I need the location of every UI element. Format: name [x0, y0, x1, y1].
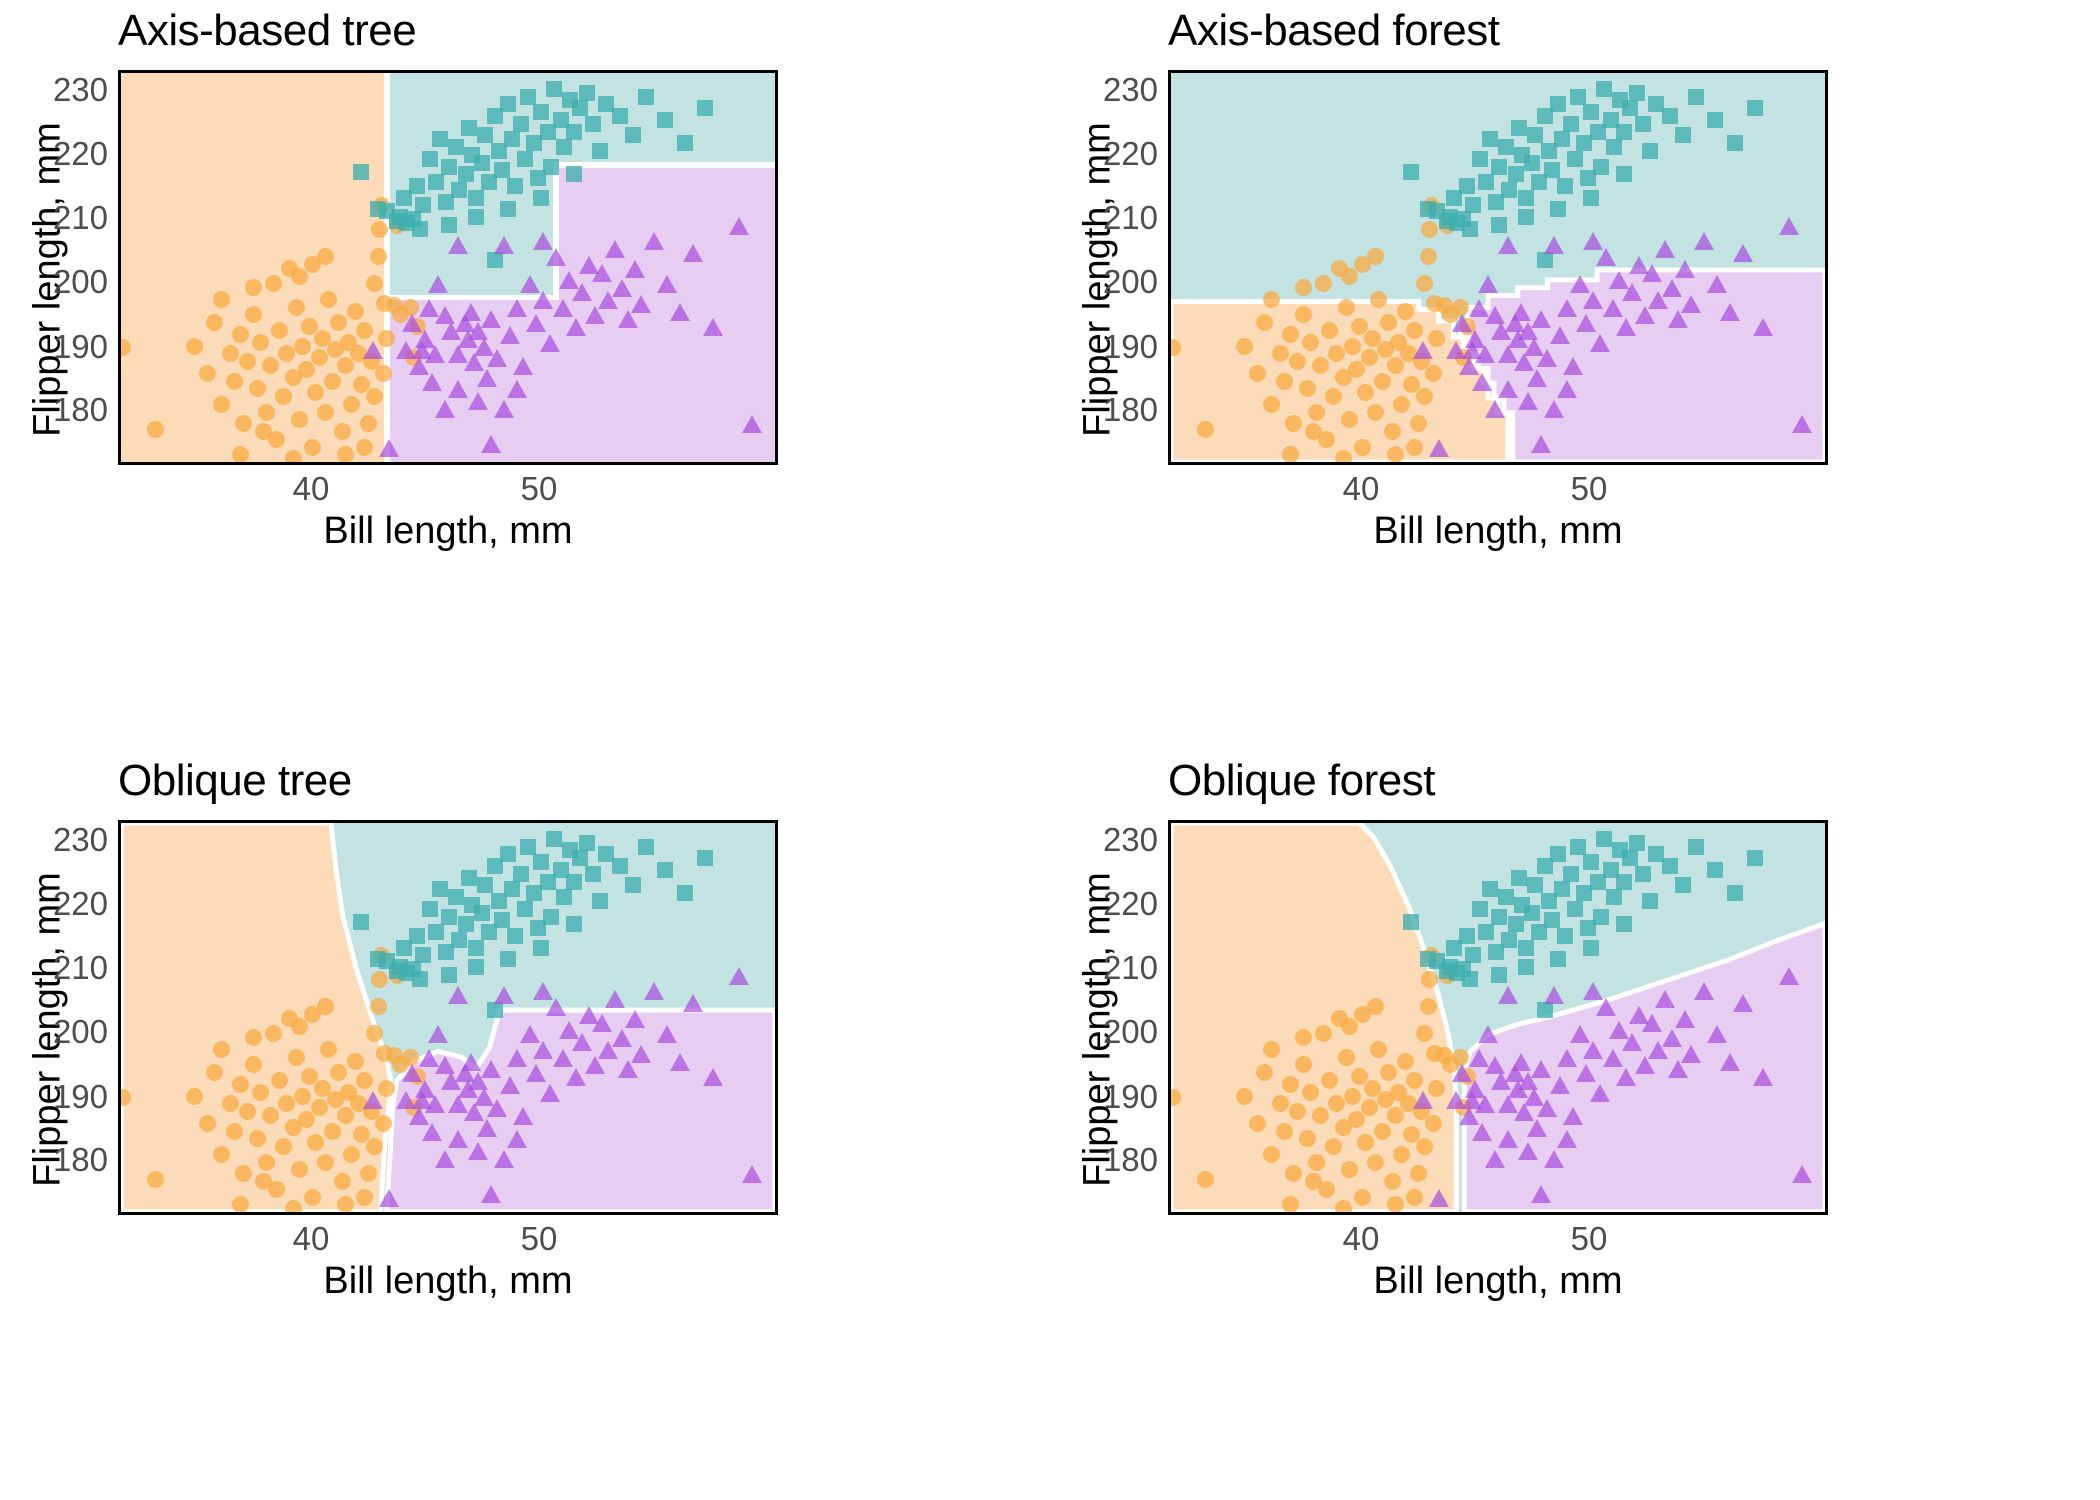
- data-point: [1675, 1010, 1695, 1028]
- data-point: [546, 998, 566, 1016]
- data-point: [494, 986, 514, 1004]
- data-point: [566, 124, 582, 140]
- y-tick-210: 210: [3, 949, 108, 987]
- x-tick-50: 50: [1571, 470, 1608, 508]
- data-point: [1557, 380, 1577, 398]
- data-point: [612, 858, 628, 874]
- data-point: [1397, 303, 1414, 320]
- data-point: [1733, 994, 1753, 1012]
- x-tick-40: 40: [293, 1220, 330, 1258]
- data-point: [1472, 901, 1488, 917]
- data-point: [1491, 217, 1507, 233]
- data-point: [657, 862, 673, 878]
- data-point: [1508, 166, 1524, 182]
- data-point: [556, 139, 572, 155]
- data-point: [494, 912, 510, 928]
- data-point: [1482, 881, 1498, 897]
- data-point: [1518, 209, 1534, 225]
- data-point: [311, 1099, 328, 1116]
- data-point: [1263, 1146, 1280, 1163]
- data-point: [441, 967, 457, 983]
- data-point: [409, 928, 425, 944]
- y-tick-230: 230: [1053, 821, 1158, 859]
- data-point: [1263, 396, 1280, 413]
- data-point: [592, 264, 612, 282]
- data-point: [1361, 349, 1378, 366]
- data-point: [500, 846, 516, 862]
- data-point: [1606, 889, 1622, 905]
- y-tick-180: 180: [3, 1141, 108, 1179]
- x-tick-50: 50: [1571, 1220, 1608, 1258]
- data-point: [533, 1041, 553, 1059]
- data-point: [226, 373, 243, 390]
- data-point: [249, 380, 266, 397]
- data-point: [1675, 260, 1695, 278]
- data-point: [1403, 164, 1419, 180]
- data-point: [1570, 89, 1586, 105]
- data-point: [1527, 877, 1543, 893]
- data-point: [494, 1150, 514, 1168]
- data-point: [1429, 439, 1449, 457]
- data-point: [1554, 881, 1570, 897]
- data-point: [1603, 1049, 1623, 1067]
- x-axis-label: Bill length, mm: [1168, 510, 1828, 553]
- data-point: [1596, 998, 1616, 1016]
- data-point: [432, 131, 448, 147]
- data-point: [213, 291, 230, 308]
- data-point: [1616, 874, 1632, 890]
- data-point: [1655, 990, 1675, 1008]
- data-point: [1475, 1095, 1495, 1113]
- data-point: [566, 318, 586, 336]
- data-point: [638, 89, 654, 105]
- data-point: [1478, 174, 1494, 190]
- data-point: [585, 116, 601, 132]
- data-point: [1338, 299, 1355, 316]
- data-point: [1554, 131, 1570, 147]
- data-point: [517, 151, 533, 167]
- data-point: [356, 1189, 373, 1206]
- data-point: [592, 143, 608, 159]
- data-point: [1302, 1084, 1319, 1101]
- data-point: [1563, 357, 1583, 375]
- data-point: [1642, 893, 1658, 909]
- data-point: [1593, 159, 1609, 175]
- data-point: [458, 916, 474, 932]
- data-point: [504, 131, 520, 147]
- y-tick-210: 210: [3, 199, 108, 237]
- data-point: [432, 881, 448, 897]
- data-point: [1550, 326, 1570, 344]
- data-point: [1325, 388, 1342, 405]
- data-point: [324, 373, 341, 390]
- x-axis-label: Bill length, mm: [118, 510, 778, 553]
- data-point: [1491, 909, 1507, 925]
- data-point: [275, 1138, 292, 1155]
- data-point: [1485, 1150, 1505, 1168]
- data-point: [592, 893, 608, 909]
- data-point: [1753, 1068, 1773, 1086]
- y-tick-220: 220: [3, 135, 108, 173]
- data-point: [1675, 877, 1691, 893]
- data-point: [226, 1123, 243, 1140]
- data-point: [481, 1185, 501, 1203]
- panel-axis-based-forest: Axis-based forest Flipper length, mm Bil…: [1050, 0, 2100, 750]
- data-point: [213, 1041, 230, 1058]
- data-point: [592, 1014, 612, 1032]
- x-tick-40: 40: [1343, 1220, 1380, 1258]
- data-point: [500, 326, 520, 344]
- plot-area-axis-based-forest[interactable]: [1168, 70, 1828, 465]
- data-point: [507, 1049, 527, 1067]
- data-point: [249, 1130, 266, 1147]
- data-point: [533, 291, 553, 309]
- data-point: [670, 1053, 690, 1071]
- data-point: [1344, 1088, 1361, 1105]
- data-point: [507, 380, 527, 398]
- y-tick-210: 210: [1053, 199, 1158, 237]
- plot-area-oblique-forest[interactable]: [1168, 820, 1828, 1215]
- data-point: [304, 439, 321, 456]
- data-point: [285, 1200, 302, 1215]
- data-point: [1550, 951, 1566, 967]
- y-tick-180: 180: [3, 391, 108, 429]
- data-point: [425, 1095, 445, 1113]
- data-point: [1747, 100, 1763, 116]
- data-point: [507, 178, 523, 194]
- plot-area-oblique-tree[interactable]: [118, 820, 778, 1215]
- data-point: [1263, 1041, 1280, 1058]
- data-point: [1733, 244, 1753, 262]
- data-point: [1442, 209, 1458, 225]
- x-axis-label: Bill length, mm: [1168, 1260, 1828, 1303]
- data-point: [428, 924, 444, 940]
- data-point: [605, 240, 625, 258]
- data-point: [422, 373, 442, 391]
- data-point: [1583, 190, 1599, 206]
- data-point: [533, 940, 549, 956]
- data-point: [1727, 885, 1743, 901]
- data-point: [1413, 1091, 1433, 1109]
- data-point: [468, 392, 488, 410]
- panel-title-axis-based-forest: Axis-based forest: [1168, 6, 1499, 56]
- data-point: [392, 959, 408, 975]
- data-point: [729, 967, 749, 985]
- data-point: [1707, 275, 1727, 293]
- data-point: [1537, 349, 1557, 367]
- data-point: [625, 127, 641, 143]
- data-point: [451, 182, 467, 198]
- data-point: [572, 283, 592, 301]
- data-point: [1596, 831, 1612, 847]
- data-point: [1478, 1025, 1498, 1043]
- y-tick-190: 190: [3, 1078, 108, 1116]
- data-point: [507, 928, 523, 944]
- data-point: [513, 116, 529, 132]
- data-point: [1384, 423, 1401, 440]
- data-point: [513, 357, 533, 375]
- data-point: [435, 1150, 455, 1168]
- data-point: [334, 1173, 351, 1190]
- data-point: [441, 159, 457, 175]
- data-point: [1518, 190, 1534, 206]
- data-point: [1478, 924, 1494, 940]
- data-point: [1596, 81, 1612, 97]
- data-point: [513, 866, 529, 882]
- data-point: [677, 135, 693, 151]
- data-point: [1567, 151, 1583, 167]
- data-point: [1406, 1189, 1423, 1206]
- data-point: [422, 901, 438, 917]
- data-point: [1681, 295, 1701, 313]
- data-point: [504, 881, 520, 897]
- data-point: [1465, 947, 1481, 963]
- data-point: [1527, 127, 1543, 143]
- data-point: [1583, 232, 1603, 250]
- data-point: [347, 303, 364, 320]
- data-point: [298, 361, 315, 378]
- data-point: [618, 1060, 638, 1078]
- data-point: [1524, 905, 1540, 921]
- data-point: [1485, 400, 1505, 418]
- data-point: [353, 914, 369, 930]
- panel-oblique-forest: Oblique forest Flipper length, mm Bill l…: [1050, 750, 2100, 1500]
- data-point: [1374, 373, 1391, 390]
- data-point: [1335, 450, 1352, 465]
- x-tick-50: 50: [521, 1220, 558, 1258]
- data-point: [1544, 912, 1560, 928]
- data-point: [239, 1103, 256, 1120]
- data-point: [533, 854, 549, 870]
- data-point: [360, 1165, 377, 1182]
- data-point: [1527, 369, 1547, 387]
- x-tick-50: 50: [521, 470, 558, 508]
- data-point: [334, 423, 351, 440]
- data-point: [1325, 1138, 1342, 1155]
- data-point: [304, 1006, 321, 1023]
- data-point: [533, 104, 549, 120]
- data-point: [612, 279, 632, 297]
- data-point: [618, 310, 638, 328]
- data-point: [1753, 318, 1773, 336]
- data-point: [1531, 310, 1551, 328]
- data-point: [543, 909, 559, 925]
- data-point: [1459, 928, 1475, 944]
- data-point: [474, 905, 490, 921]
- data-point: [657, 275, 677, 293]
- data-point: [625, 877, 641, 893]
- data-point: [288, 299, 305, 316]
- data-point: [533, 190, 549, 206]
- data-point: [1387, 357, 1404, 374]
- data-point: [370, 998, 387, 1015]
- data-point: [415, 947, 431, 963]
- data-point: [1688, 839, 1704, 855]
- data-point: [1662, 279, 1682, 297]
- data-point: [533, 982, 553, 1000]
- data-point: [448, 986, 468, 1004]
- data-point: [1413, 341, 1433, 359]
- data-point: [1616, 124, 1632, 140]
- data-point: [298, 1111, 315, 1128]
- plot-area-axis-based-tree[interactable]: [118, 70, 778, 465]
- data-point: [1583, 291, 1603, 309]
- data-point: [422, 151, 438, 167]
- data-point: [1354, 256, 1371, 273]
- data-point: [375, 1115, 392, 1132]
- data-point: [1387, 1107, 1404, 1124]
- data-point: [546, 81, 562, 97]
- data-point: [1603, 299, 1623, 317]
- data-point: [670, 303, 690, 321]
- panel-oblique-tree: Oblique tree Flipper length, mm Bill len…: [0, 750, 1050, 1500]
- data-point: [1642, 264, 1662, 282]
- data-point: [1289, 1103, 1306, 1120]
- data-point: [448, 236, 468, 254]
- data-point: [638, 839, 654, 855]
- data-point: [566, 1068, 586, 1086]
- data-point: [262, 357, 279, 374]
- data-point: [520, 89, 536, 105]
- data-point: [252, 334, 269, 351]
- data-point: [1282, 1076, 1299, 1093]
- data-point: [353, 164, 369, 180]
- data-point: [1537, 1099, 1557, 1117]
- data-point: [481, 310, 501, 328]
- data-point: [402, 1064, 422, 1082]
- data-point: [1590, 334, 1610, 352]
- data-point: [1583, 854, 1599, 870]
- data-point: [451, 932, 467, 948]
- data-point: [1498, 1130, 1518, 1148]
- data-point: [1462, 221, 1478, 237]
- data-point: [1629, 85, 1645, 101]
- data-point: [1616, 1068, 1636, 1086]
- data-point: [1616, 318, 1636, 336]
- x-axis-label: Bill length, mm: [118, 1260, 778, 1303]
- data-point: [285, 450, 302, 465]
- data-point: [697, 850, 713, 866]
- data-point: [213, 396, 230, 413]
- data-point: [1590, 1084, 1610, 1102]
- data-point: [677, 885, 693, 901]
- data-point: [683, 244, 703, 262]
- data-point: [1576, 314, 1596, 332]
- data-point: [1367, 1154, 1384, 1171]
- data-point: [1367, 404, 1384, 421]
- data-point: [729, 217, 749, 235]
- data-point: [585, 866, 601, 882]
- data-point: [402, 1049, 419, 1066]
- panel-title-oblique-tree: Oblique tree: [118, 756, 352, 806]
- data-point: [1707, 862, 1723, 878]
- data-point: [507, 1130, 527, 1148]
- data-point: [1501, 182, 1517, 198]
- data-point: [1779, 217, 1799, 235]
- data-point: [494, 400, 514, 418]
- data-point: [683, 994, 703, 1012]
- data-point: [1694, 232, 1714, 250]
- data-point: [1642, 1014, 1662, 1032]
- data-point: [553, 1049, 573, 1067]
- data-point: [657, 1025, 677, 1043]
- panel-title-axis-based-tree: Axis-based tree: [118, 6, 416, 56]
- data-point: [1420, 248, 1437, 265]
- data-point: [412, 971, 428, 987]
- data-point: [631, 295, 651, 313]
- data-point: [1518, 392, 1538, 410]
- data-point: [1635, 1056, 1655, 1074]
- data-point: [494, 162, 510, 178]
- data-point: [379, 439, 399, 457]
- data-point: [1482, 131, 1498, 147]
- data-point: [1518, 1142, 1538, 1160]
- data-point: [252, 1084, 269, 1101]
- data-point: [435, 400, 455, 418]
- data-point: [697, 100, 713, 116]
- data-point: [572, 1033, 592, 1051]
- data-point: [481, 435, 501, 453]
- data-point: [1622, 1033, 1642, 1051]
- data-point: [1511, 1053, 1531, 1071]
- data-point: [294, 1088, 311, 1105]
- data-point: [566, 874, 582, 890]
- data-point: [1622, 100, 1638, 116]
- data-point: [1550, 201, 1566, 217]
- data-point: [631, 1045, 651, 1063]
- data-point: [1299, 380, 1316, 397]
- data-point: [1354, 1189, 1371, 1206]
- data-point: [1544, 986, 1564, 1004]
- data-point: [441, 909, 457, 925]
- data-point: [337, 1107, 354, 1124]
- data-point: [1263, 291, 1280, 308]
- data-point: [1527, 1119, 1547, 1137]
- data-point: [1668, 1060, 1688, 1078]
- data-point: [477, 877, 493, 893]
- data-point: [1531, 1060, 1551, 1078]
- data-point: [1465, 197, 1481, 213]
- data-point: [422, 1123, 442, 1141]
- data-point: [1544, 162, 1560, 178]
- data-point: [520, 839, 536, 855]
- data-point: [1498, 139, 1514, 155]
- data-point: [1344, 338, 1361, 355]
- data-point: [1550, 96, 1566, 112]
- y-tick-230: 230: [1053, 71, 1158, 109]
- data-point: [1567, 901, 1583, 917]
- data-point: [500, 201, 516, 217]
- data-point: [703, 318, 723, 336]
- figure-grid: Axis-based tree Flipper length, mm Bill …: [0, 0, 2100, 1500]
- data-point: [262, 1107, 279, 1124]
- data-point: [546, 831, 562, 847]
- y-tick-210: 210: [1053, 949, 1158, 987]
- data-point: [1544, 1150, 1564, 1168]
- data-point: [1557, 1049, 1577, 1067]
- data-point: [513, 1107, 533, 1125]
- data-point: [553, 299, 573, 317]
- data-point: [487, 349, 507, 367]
- data-point: [461, 120, 477, 136]
- data-point: [500, 1076, 520, 1094]
- data-point: [412, 221, 428, 237]
- data-point: [1557, 1130, 1577, 1148]
- data-point: [1425, 1115, 1442, 1132]
- data-point: [1606, 139, 1622, 155]
- y-tick-200: 200: [1053, 263, 1158, 301]
- data-point: [1675, 127, 1691, 143]
